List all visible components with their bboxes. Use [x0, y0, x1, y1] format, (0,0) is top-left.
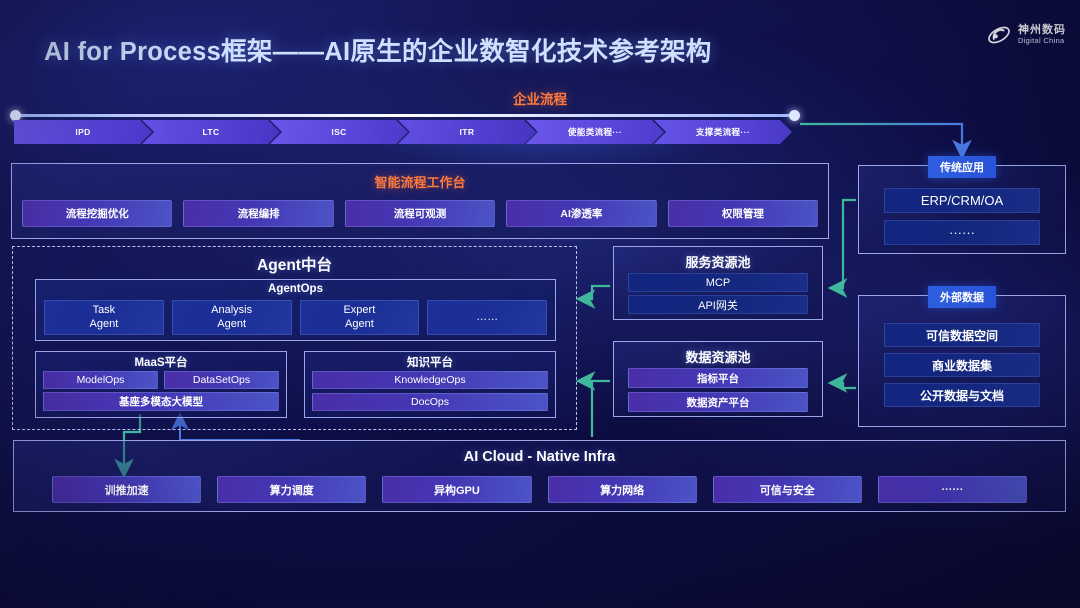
data-resource-pool-panel: 数据资源池 指标平台 数据资产平台: [613, 341, 823, 417]
process-step-enabling[interactable]: 使能类流程···: [526, 120, 664, 144]
process-step-isc[interactable]: ISC: [270, 120, 408, 144]
service-pool-row-mcp: MCP: [628, 273, 808, 292]
maas-title: MaaS平台: [36, 354, 286, 370]
maas-platform-panel: MaaS平台 ModelOps DataSetOps 基座多模态大模型: [35, 351, 287, 418]
connector-external-to-data-pool: [832, 383, 856, 388]
agentops-title: AgentOps: [36, 283, 555, 295]
workbench-item-process-observability[interactable]: 流程可观测: [345, 200, 495, 227]
analysis-agent-line2: Agent: [217, 318, 246, 332]
page-title: AI for Process框架——AI原生的企业数智化技术参考架构: [44, 31, 712, 68]
workbench-item-permission-management[interactable]: 权限管理: [668, 200, 818, 227]
infra-item-trust-and-security[interactable]: 可信与安全: [713, 476, 862, 503]
knowledge-platform-panel: 知识平台 KnowledgeOps DocOps: [304, 351, 556, 418]
infra-title: AI Cloud - Native Infra: [14, 449, 1065, 465]
process-rail-label: 企业流程: [0, 88, 1080, 108]
external-row-commercial: 商业数据集: [884, 353, 1040, 377]
service-resource-pool-panel: 服务资源池 MCP API网关: [613, 246, 823, 320]
data-pool-row-asset: 数据资产平台: [628, 392, 808, 412]
smart-process-workbench-panel: 智能流程工作台 流程挖掘优化 流程编排 流程可观测 AI渗透率 权限管理: [11, 163, 829, 239]
process-step-supporting[interactable]: 支撑类流程···: [654, 120, 792, 144]
agent-hub-panel: Agent中台 AgentOps Task Agent Analysis Age…: [12, 246, 577, 430]
maas-base-model-row: 基座多模态大模型: [43, 392, 279, 411]
infra-item-compute-scheduling[interactable]: 算力调度: [217, 476, 366, 503]
agentops-item-expert-agent[interactable]: Expert Agent: [300, 300, 420, 335]
connector-legacy-to-service-pool: [832, 200, 856, 288]
workbench-items: 流程挖掘优化 流程编排 流程可观测 AI渗透率 权限管理: [22, 200, 818, 227]
digital-china-swirl-icon: [986, 22, 1012, 48]
legacy-applications-tag: 传统应用: [928, 156, 996, 178]
workbench-item-process-orchestration[interactable]: 流程编排: [183, 200, 333, 227]
maas-item-base-multimodal-model[interactable]: 基座多模态大模型: [43, 392, 279, 411]
connector-service-pool-to-agent: [580, 286, 610, 299]
data-pool-item-metrics-platform[interactable]: 指标平台: [628, 368, 808, 388]
agentops-panel: AgentOps Task Agent Analysis Agent Exper…: [35, 279, 556, 341]
external-row-public: 公开数据与文档: [884, 383, 1040, 407]
expert-agent-line1: Expert: [343, 304, 375, 318]
expert-agent-line2: Agent: [345, 318, 374, 332]
external-row-trusted-space: 可信数据空间: [884, 323, 1040, 347]
knowledge-item-knowledgeops[interactable]: KnowledgeOps: [312, 371, 548, 389]
knowledge-title: 知识平台: [305, 354, 555, 370]
service-pool-row-api-gateway: API网关: [628, 295, 808, 314]
slide-canvas: AI for Process框架——AI原生的企业数智化技术参考架构 神州数码 …: [0, 0, 1080, 608]
workbench-item-ai-penetration[interactable]: AI渗透率: [506, 200, 656, 227]
maas-ops-row: ModelOps DataSetOps: [43, 371, 279, 389]
infra-items: 训推加速 算力调度 异构GPU 算力网络 可信与安全 ······: [52, 476, 1027, 503]
legacy-applications-panel: 传统应用 ERP/CRM/OA ······: [858, 165, 1066, 254]
external-data-panel: 外部数据 可信数据空间 商业数据集 公开数据与文档: [858, 295, 1066, 427]
process-step-itr[interactable]: ITR: [398, 120, 536, 144]
service-pool-item-mcp[interactable]: MCP: [628, 273, 808, 292]
task-agent-line2: Agent: [90, 318, 119, 332]
brand-name-en: Digital China: [1018, 37, 1066, 45]
infra-item-training-inference-acceleration[interactable]: 训推加速: [52, 476, 201, 503]
brand-logo-text: 神州数码 Digital China: [1018, 25, 1066, 44]
analysis-agent-line1: Analysis: [211, 304, 252, 318]
legacy-item-erp-crm-oa[interactable]: ERP/CRM/OA: [884, 188, 1040, 213]
process-chevron-bar: IPD LTC ISC ITR 使能类流程··· 支撑类流程···: [14, 120, 792, 144]
infra-item-heterogeneous-gpu[interactable]: 异构GPU: [382, 476, 531, 503]
process-step-ipd[interactable]: IPD: [14, 120, 152, 144]
infra-item-compute-network[interactable]: 算力网络: [548, 476, 697, 503]
workbench-item-process-mining[interactable]: 流程挖掘优化: [22, 200, 172, 227]
data-pool-item-data-asset-platform[interactable]: 数据资产平台: [628, 392, 808, 412]
knowledge-row-docops: DocOps: [312, 393, 548, 411]
knowledge-item-docops[interactable]: DocOps: [312, 393, 548, 411]
agent-hub-title: Agent中台: [13, 253, 576, 275]
agentops-item-analysis-agent[interactable]: Analysis Agent: [172, 300, 292, 335]
process-step-ltc[interactable]: LTC: [142, 120, 280, 144]
maas-item-datasetops[interactable]: DataSetOps: [164, 371, 279, 389]
legacy-row-more: ······: [884, 220, 1040, 245]
data-pool-title: 数据资源池: [614, 347, 822, 366]
maas-item-modelops[interactable]: ModelOps: [43, 371, 158, 389]
infra-item-more[interactable]: ······: [878, 476, 1027, 503]
external-item-commercial-datasets[interactable]: 商业数据集: [884, 353, 1040, 377]
process-rail-line: [14, 114, 792, 117]
brand-logo: 神州数码 Digital China: [986, 22, 1066, 48]
agentops-items: Task Agent Analysis Agent Expert Agent ……: [44, 300, 547, 335]
data-pool-row-metrics: 指标平台: [628, 368, 808, 388]
knowledge-row-knowledgeops: KnowledgeOps: [312, 371, 548, 389]
agentops-item-more[interactable]: ……: [427, 300, 547, 335]
agentops-item-task-agent[interactable]: Task Agent: [44, 300, 164, 335]
external-item-public-data-docs[interactable]: 公开数据与文档: [884, 383, 1040, 407]
ai-cloud-native-infra-panel: AI Cloud - Native Infra 训推加速 算力调度 异构GPU …: [13, 440, 1066, 512]
more-agents-ellipsis: ……: [476, 311, 498, 325]
external-item-trusted-data-space[interactable]: 可信数据空间: [884, 323, 1040, 347]
task-agent-line1: Task: [93, 304, 116, 318]
service-pool-item-api-gateway[interactable]: API网关: [628, 295, 808, 314]
service-pool-title: 服务资源池: [614, 252, 822, 271]
legacy-item-more[interactable]: ······: [884, 220, 1040, 245]
connector-process-to-legacy: [800, 124, 962, 155]
external-data-tag: 外部数据: [928, 286, 996, 308]
workbench-title: 智能流程工作台: [12, 172, 828, 191]
legacy-row-erp: ERP/CRM/OA: [884, 188, 1040, 213]
